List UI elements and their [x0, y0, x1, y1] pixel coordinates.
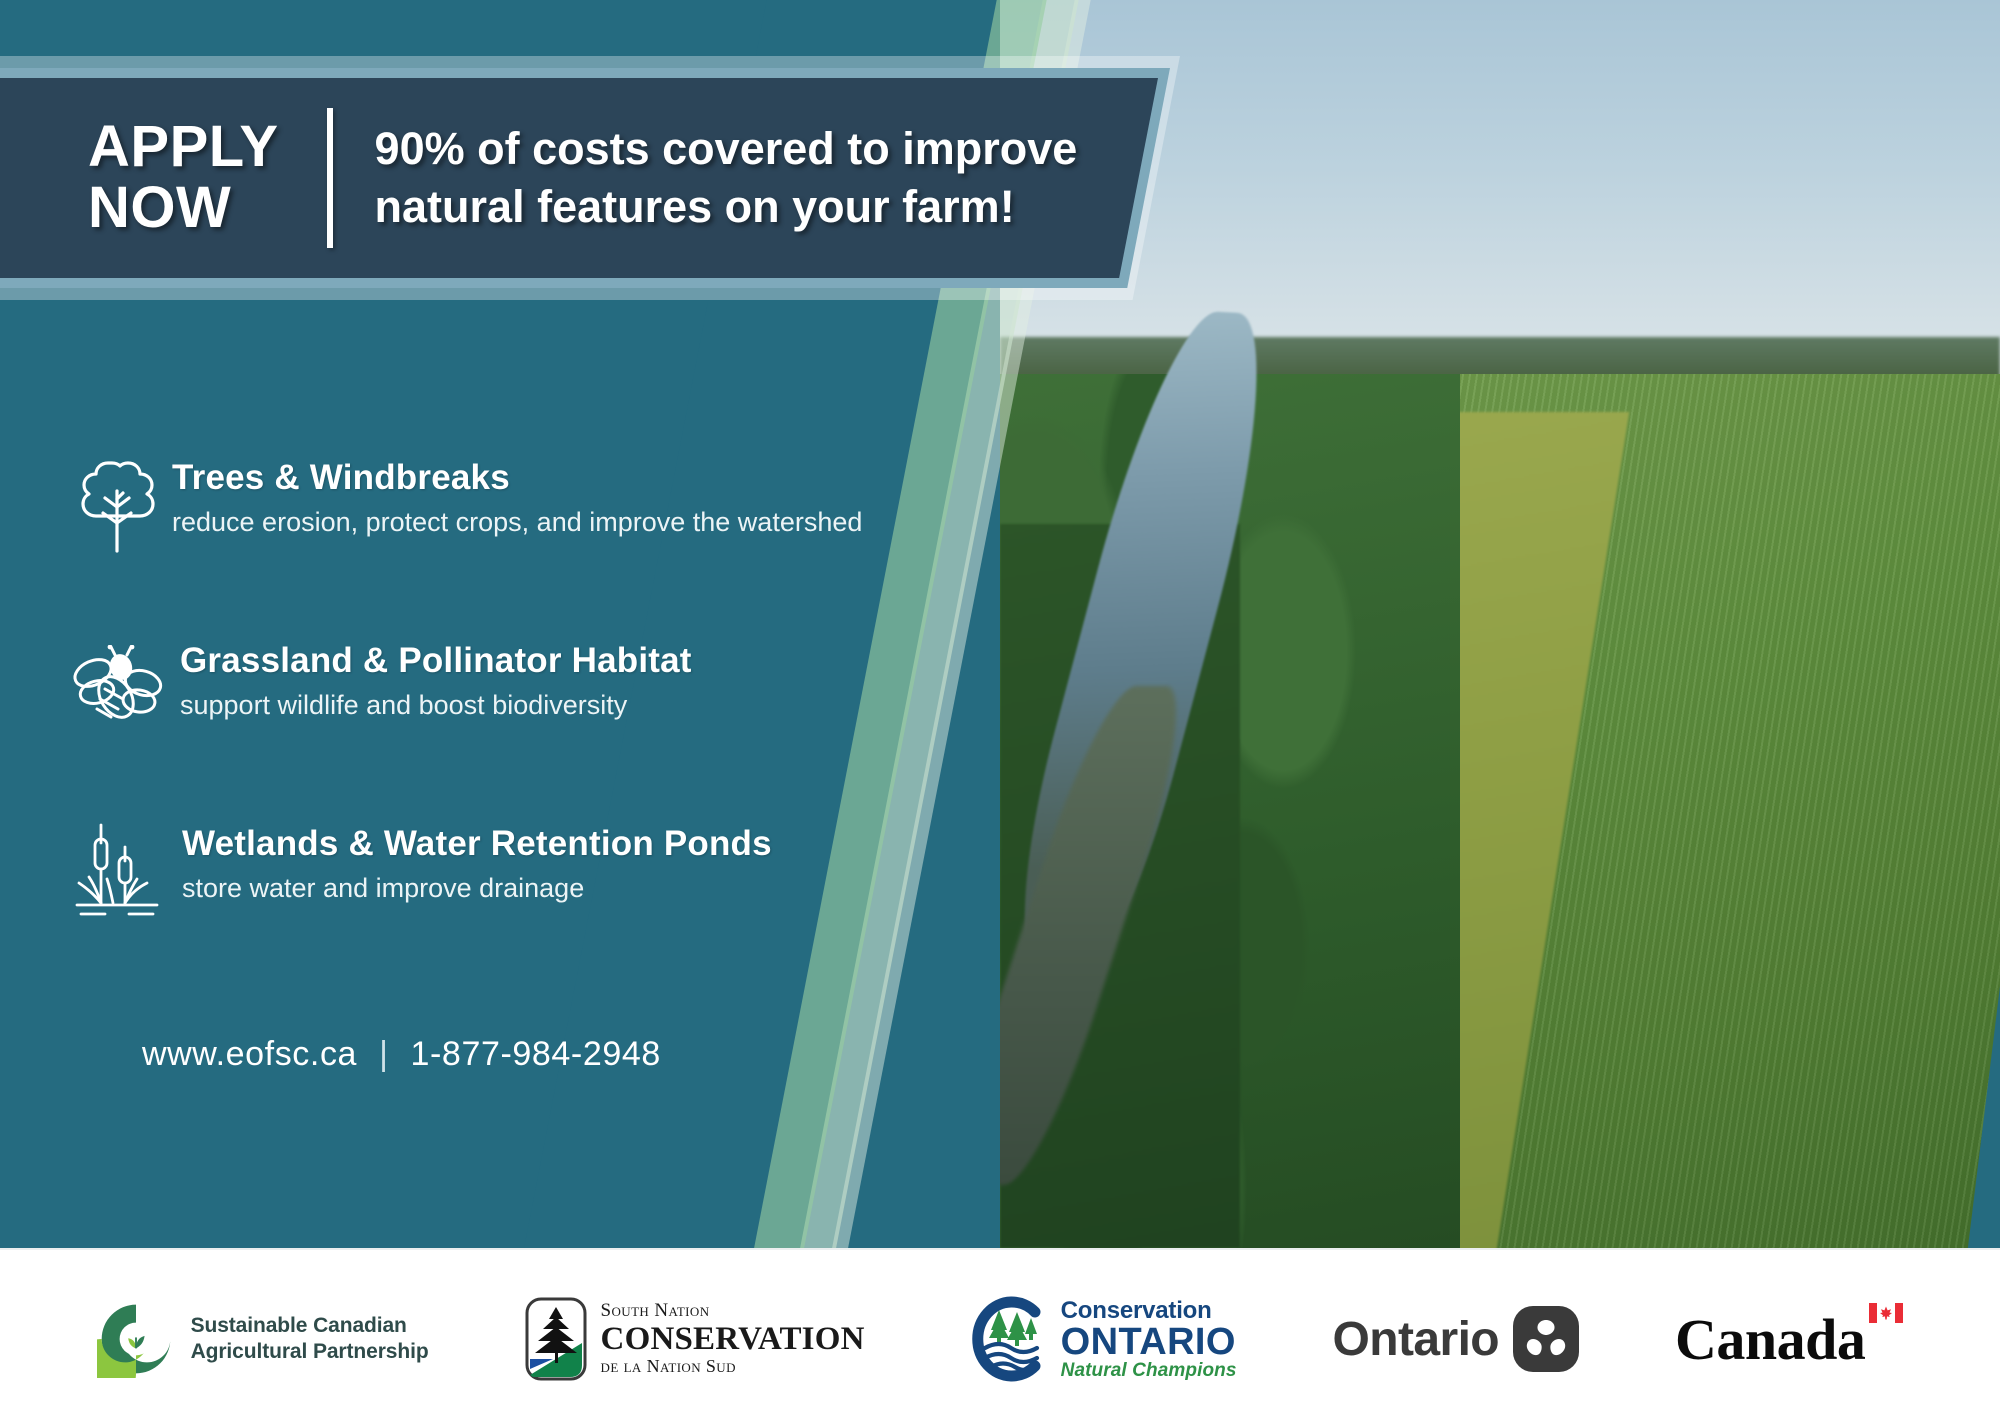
canada-flag-icon: [1869, 1303, 1903, 1323]
tree-icon: [62, 452, 172, 557]
contact-separator: |: [379, 1035, 388, 1074]
conservation-ontario-c-icon: [961, 1296, 1053, 1382]
snc-label: South Nation CONSERVATION de la Nation S…: [601, 1301, 865, 1376]
feature-text-grassland: Grassland & Pollinator Habitat support w…: [172, 635, 692, 722]
feature-item-grassland: Grassland & Pollinator Habitat support w…: [62, 635, 1082, 740]
scap-swirl-icon: [97, 1300, 175, 1378]
cattail-icon: [62, 818, 172, 923]
website-link[interactable]: www.eofsc.ca: [142, 1035, 357, 1074]
feature-subtitle: reduce erosion, protect crops, and impro…: [172, 506, 862, 538]
feature-item-trees: Trees & Windbreaks reduce erosion, prote…: [62, 452, 1082, 557]
scap-label: Sustainable Canadian Agricultural Partne…: [191, 1313, 429, 1364]
bee-icon: [62, 635, 172, 740]
snc-line-1: South Nation: [601, 1301, 865, 1322]
co-line-1: Conservation: [1061, 1299, 1237, 1323]
feature-list: Trees & Windbreaks reduce erosion, prote…: [62, 452, 1082, 1001]
ontario-wordmark: Ontario: [1333, 1312, 1499, 1367]
feature-title: Wetlands & Water Retention Ponds: [172, 824, 772, 863]
phone-number[interactable]: 1-877-984-2948: [411, 1035, 661, 1074]
feature-text-wetlands: Wetlands & Water Retention Ponds store w…: [172, 818, 772, 905]
logo-sustainable-canadian-agricultural-partnership: Sustainable Canadian Agricultural Partne…: [97, 1300, 429, 1378]
feature-subtitle: support wildlife and boost biodiversity: [172, 689, 692, 721]
feature-text-trees: Trees & Windbreaks reduce erosion, prote…: [172, 452, 862, 539]
co-line-3: Natural Champions: [1061, 1361, 1237, 1380]
snc-line-2: CONSERVATION: [601, 1322, 865, 1357]
snc-line-3: de la Nation Sud: [601, 1357, 865, 1377]
logo-conservation-ontario: Conservation ONTARIO Natural Champions: [961, 1296, 1237, 1382]
contact-line: www.eofsc.ca | 1-877-984-2948: [142, 1035, 661, 1074]
poster: APPLY NOW 90% of costs covered to improv…: [0, 0, 2000, 1428]
main-stage: APPLY NOW 90% of costs covered to improv…: [0, 0, 2000, 1248]
trillium-icon: [1513, 1306, 1579, 1372]
feature-title: Grassland & Pollinator Habitat: [172, 641, 692, 680]
banner-content: APPLY NOW 90% of costs covered to improv…: [0, 68, 1200, 288]
logo-ontario: Ontario: [1333, 1306, 1579, 1372]
banner-headline: 90% of costs covered to improve natural …: [375, 120, 1135, 235]
conservation-ontario-label: Conservation ONTARIO Natural Champions: [1061, 1299, 1237, 1380]
apply-now-text: APPLY NOW: [88, 117, 279, 239]
canada-wordmark: Canada: [1675, 1306, 1865, 1373]
snc-shield-icon: [525, 1297, 587, 1381]
logo-south-nation-conservation: South Nation CONSERVATION de la Nation S…: [525, 1297, 865, 1381]
partner-logo-bar: Sustainable Canadian Agricultural Partne…: [0, 1248, 2000, 1428]
co-line-2: ONTARIO: [1061, 1323, 1237, 1361]
logo-canada: Canada: [1675, 1306, 1903, 1373]
banner-divider: [327, 108, 333, 248]
feature-title: Trees & Windbreaks: [172, 458, 862, 497]
feature-item-wetlands: Wetlands & Water Retention Ponds store w…: [62, 818, 1082, 923]
feature-subtitle: store water and improve drainage: [172, 872, 772, 904]
